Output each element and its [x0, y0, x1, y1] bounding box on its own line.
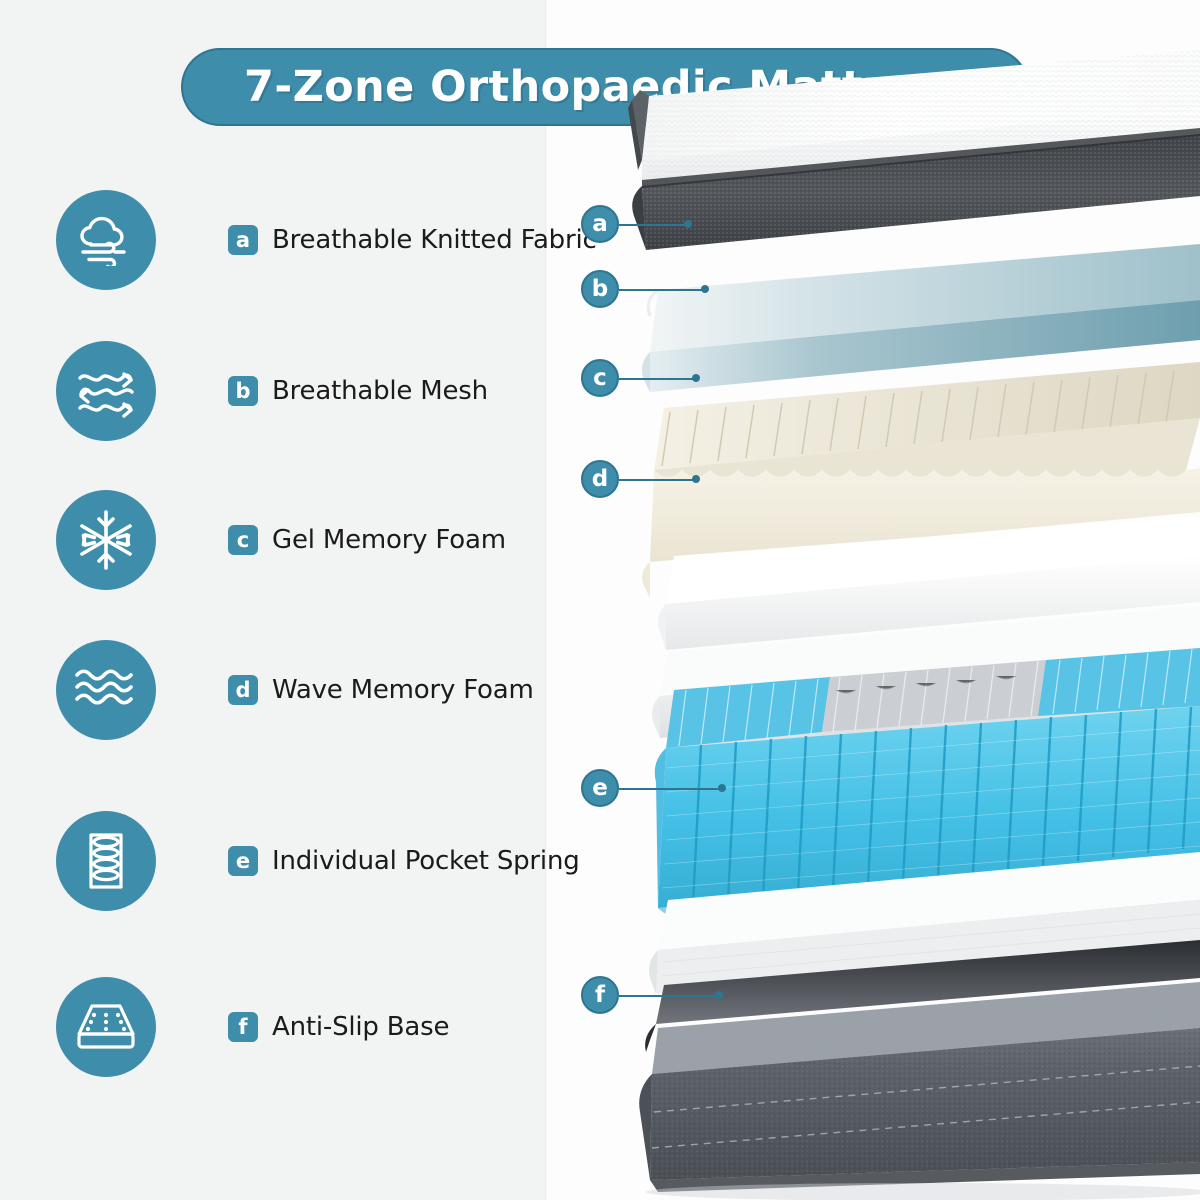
legend-badge-a: a — [228, 225, 258, 255]
callout-dot-a — [684, 220, 692, 228]
legend-label-b: Breathable Mesh — [272, 376, 488, 406]
callout-line-e — [619, 788, 722, 790]
legend-item-e[interactable]: e Individual Pocket Spring — [56, 811, 536, 911]
legend-item-f[interactable]: f Anti-Slip Base — [56, 977, 536, 1077]
callout-marker-e[interactable]: e — [581, 769, 619, 807]
mattress-base-icon — [56, 977, 156, 1077]
legend-label-d: Wave Memory Foam — [272, 675, 534, 705]
callout-marker-a[interactable]: a — [581, 205, 619, 243]
legend-badge-e: e — [228, 846, 258, 876]
coil-spring-icon — [56, 811, 156, 911]
callout-marker-f[interactable]: f — [581, 976, 619, 1014]
legend-label-c: Gel Memory Foam — [272, 525, 506, 555]
callout-marker-d[interactable]: d — [581, 460, 619, 498]
callout-marker-c[interactable]: c — [581, 359, 619, 397]
legend-item-a[interactable]: a Breathable Knitted Fabric — [56, 190, 536, 290]
legend-item-c[interactable]: c Gel Memory Foam — [56, 490, 536, 590]
legend-badge-d: d — [228, 675, 258, 705]
callout-dot-f — [715, 991, 723, 999]
legend-badge-c: c — [228, 525, 258, 555]
legend-item-d[interactable]: d Wave Memory Foam — [56, 640, 536, 740]
mattress-exploded-view — [546, 0, 1200, 1200]
water-waves-icon — [56, 640, 156, 740]
legend-label-e: Individual Pocket Spring — [272, 846, 580, 876]
callout-line-b — [619, 289, 705, 291]
snowflake-icon — [56, 490, 156, 590]
legend-badge-f: f — [228, 1012, 258, 1042]
callout-dot-c — [692, 374, 700, 382]
legend-item-b[interactable]: b Breathable Mesh — [56, 341, 536, 441]
callout-dot-b — [701, 285, 709, 293]
cloud-wind-icon — [56, 190, 156, 290]
callout-marker-b[interactable]: b — [581, 270, 619, 308]
callout-dot-d — [692, 475, 700, 483]
legend-label-f: Anti-Slip Base — [272, 1012, 449, 1042]
airflow-waves-icon — [56, 341, 156, 441]
infographic-canvas: 7-Zone Orthopaedic Mattress a Breathable… — [0, 0, 1200, 1200]
callout-line-c — [619, 378, 696, 380]
legend-badge-b: b — [228, 376, 258, 406]
callout-line-d — [619, 479, 696, 481]
callout-dot-e — [718, 784, 726, 792]
legend-list: a Breathable Knitted Fabric b Brea — [0, 0, 546, 1200]
callout-line-f — [619, 995, 719, 997]
callout-line-a — [619, 224, 688, 226]
